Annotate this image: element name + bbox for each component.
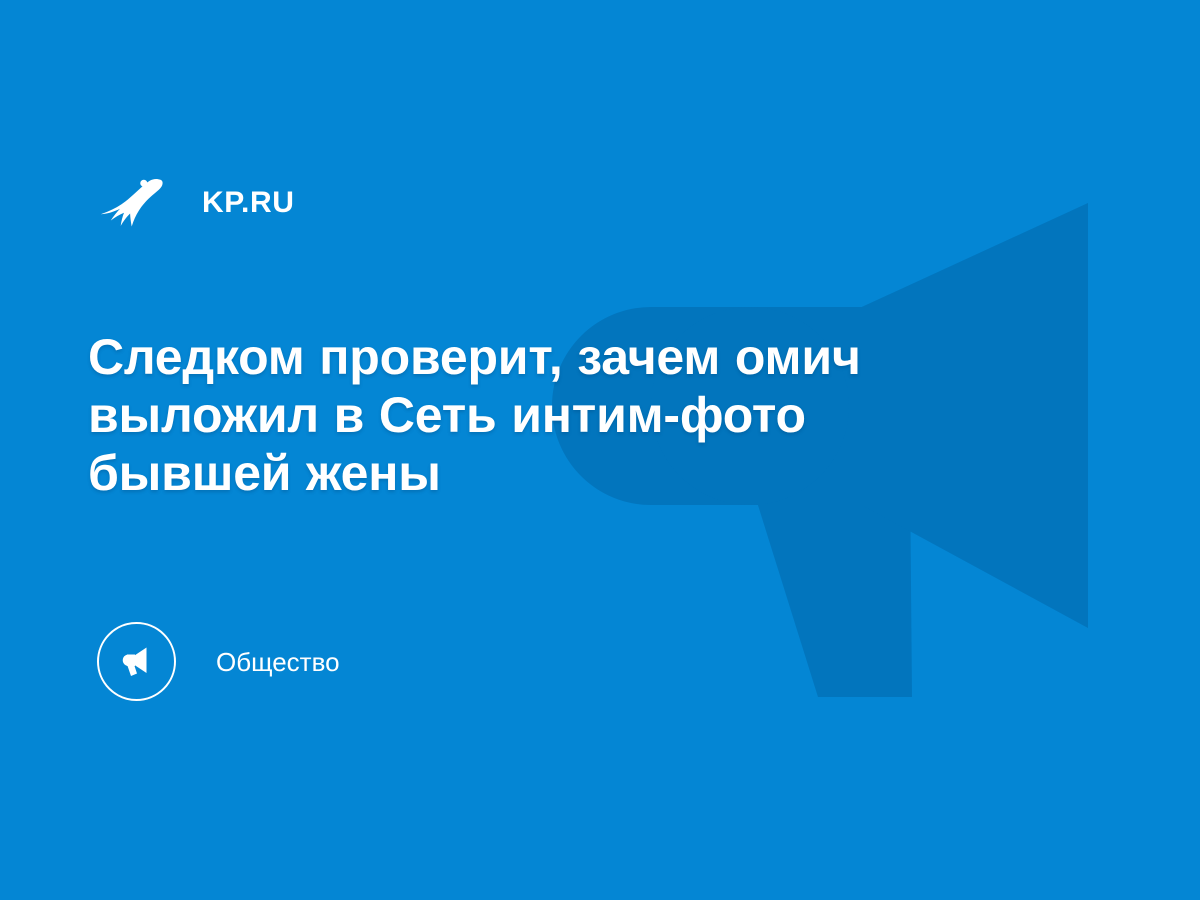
category-badge [97, 622, 176, 701]
news-share-card: KP.RU Следком проверит, зачем омич вылож… [0, 0, 1200, 900]
page-title: Следком проверит, зачем омич выложил в С… [88, 328, 988, 502]
category-chip[interactable]: Общество [97, 622, 340, 701]
brand-name: KP.RU [202, 188, 294, 218]
megaphone-icon [115, 640, 159, 684]
brand-row[interactable]: KP.RU [97, 172, 294, 234]
category-label: Общество [216, 649, 340, 675]
swallow-bird-icon [97, 172, 165, 234]
